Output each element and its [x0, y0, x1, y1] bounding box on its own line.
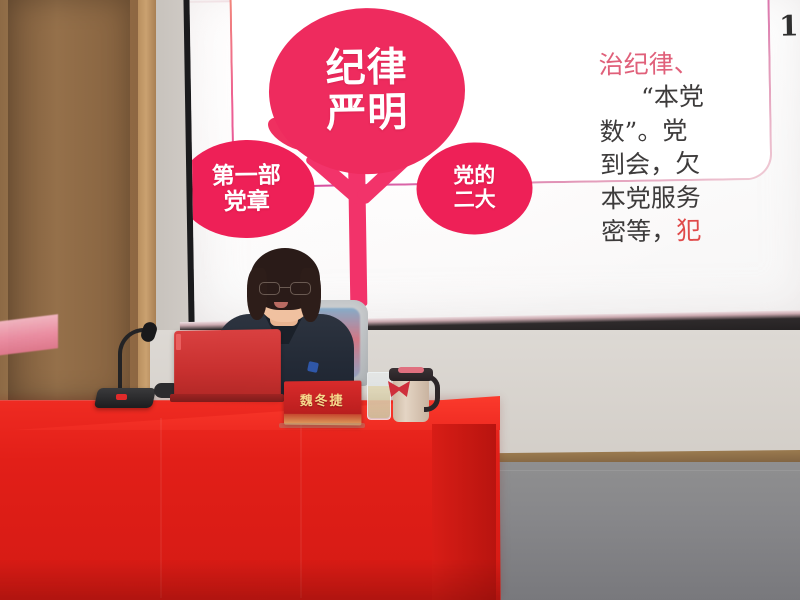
bubble-left-line2: 党章 [212, 188, 281, 215]
lecture-photo-scene: 第一部 党章 党的 二大 纪律 严明 19 治纪律、 “本党 [0, 0, 800, 600]
eyeglass-bridge [280, 287, 290, 288]
laptop-logo [176, 334, 181, 350]
nameplate-name: 魏冬捷 [284, 390, 361, 409]
bubble-strict-discipline: 纪律 严明 [268, 7, 467, 176]
microphone-led-indicator [116, 394, 127, 400]
thermos-lid-accent [398, 367, 424, 373]
slide-body-text: 19 治纪律、 “本党 数”。党 到会，欠 本党服务 密等，犯 [598, 7, 800, 249]
water-glass-contents [368, 386, 390, 418]
slide-line-6-text: 密等， [601, 216, 676, 246]
eyeglass-lens-left [259, 282, 280, 295]
slide-highlight-word: 犯 [676, 216, 701, 245]
bubble-first-party-constitution: 第一部 党章 [189, 139, 315, 239]
bubble-main-line2: 严明 [326, 90, 409, 136]
slide-line-2: “本党 [599, 78, 800, 115]
bubble-right-line1: 党的 [453, 165, 495, 189]
slide-line-3: 数”。党 [599, 111, 800, 148]
slide-line-6: 密等，犯 [601, 212, 800, 249]
table-shadow [0, 560, 500, 600]
presenter-hair-right [300, 268, 321, 322]
slide-line-1: 治纪律、 [598, 44, 800, 81]
laptop-lid [174, 329, 281, 399]
speaker-nameplate: 魏冬捷 [284, 381, 361, 426]
laptop-hinge [170, 394, 284, 402]
nameplate-stand [279, 423, 365, 428]
bubble-main-line1: 纪律 [325, 46, 408, 91]
bubble-right-line2: 二大 [454, 188, 496, 212]
eyeglasses-icon [259, 282, 311, 295]
slide-year-label: 19 [598, 7, 800, 48]
slide-line-5: 本党服务 [600, 178, 800, 215]
lapel-badge [307, 361, 319, 373]
eyeglass-lens-right [290, 282, 311, 295]
slide-line-4: 到会，欠 [600, 145, 800, 182]
bubble-left-line1: 第一部 [212, 162, 281, 189]
